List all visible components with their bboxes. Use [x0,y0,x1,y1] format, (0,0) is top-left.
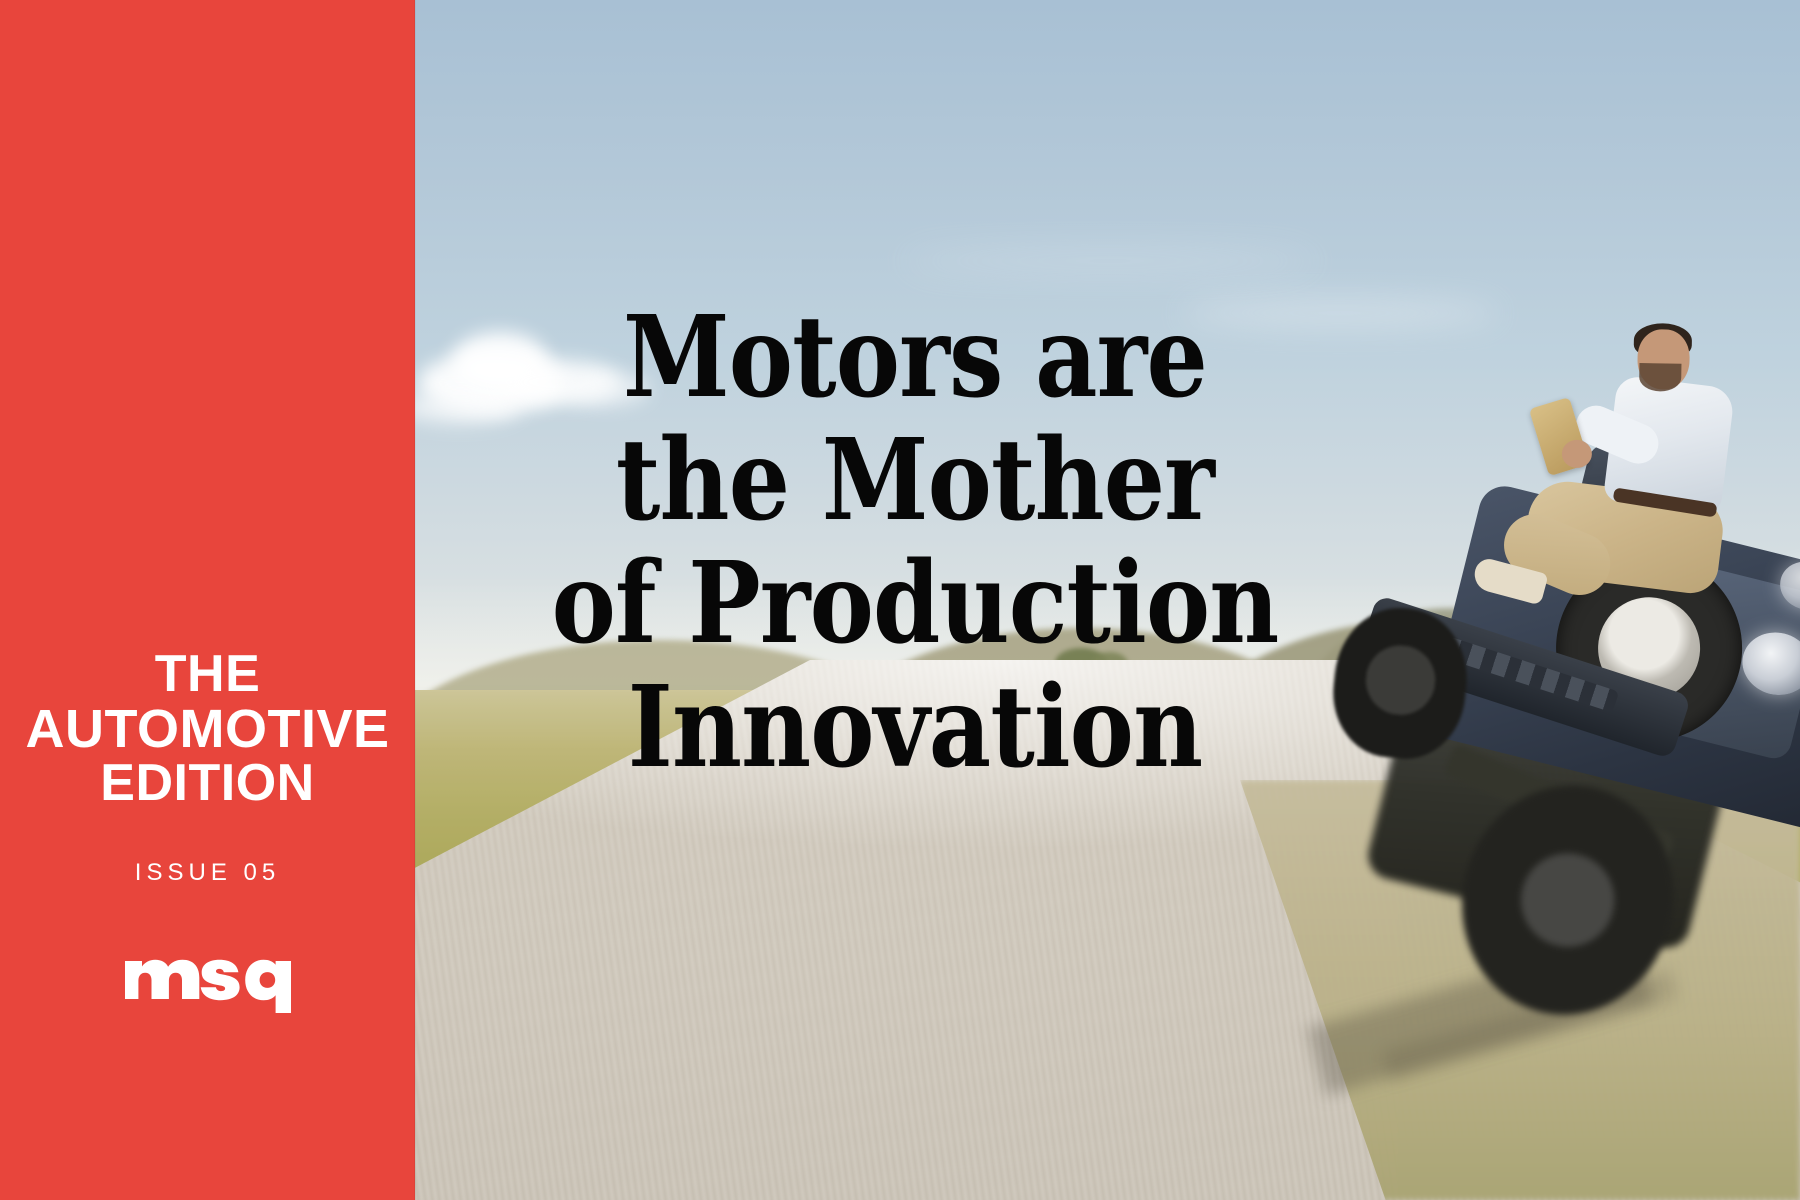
cloud-icon [400,392,520,424]
sidebar-content: THE AUTOMOTIVE EDITION ISSUE 05 [0,648,415,1013]
person-icon [1514,327,1770,661]
edition-title-line-3: EDITION [8,757,407,811]
cloud-icon [900,250,1320,272]
edition-title-line-2: AUTOMOTIVE [8,702,407,758]
person-hand [1562,440,1592,469]
red-sidebar: THE AUTOMOTIVE EDITION ISSUE 05 [0,0,415,1200]
issue-label: ISSUE 05 [0,859,415,887]
edition-title-line-1: THE [8,648,407,702]
person-beard [1639,363,1681,392]
msq-logo-icon [123,939,293,1013]
cloud-icon [560,372,650,406]
edition-title: THE AUTOMOTIVE EDITION [0,648,415,811]
cloud-icon [1180,300,1500,326]
magazine-cover: Motors are the Mother of Production Inno… [0,0,1800,1200]
panel-seam [414,0,416,1200]
msq-logo[interactable] [0,939,415,1013]
